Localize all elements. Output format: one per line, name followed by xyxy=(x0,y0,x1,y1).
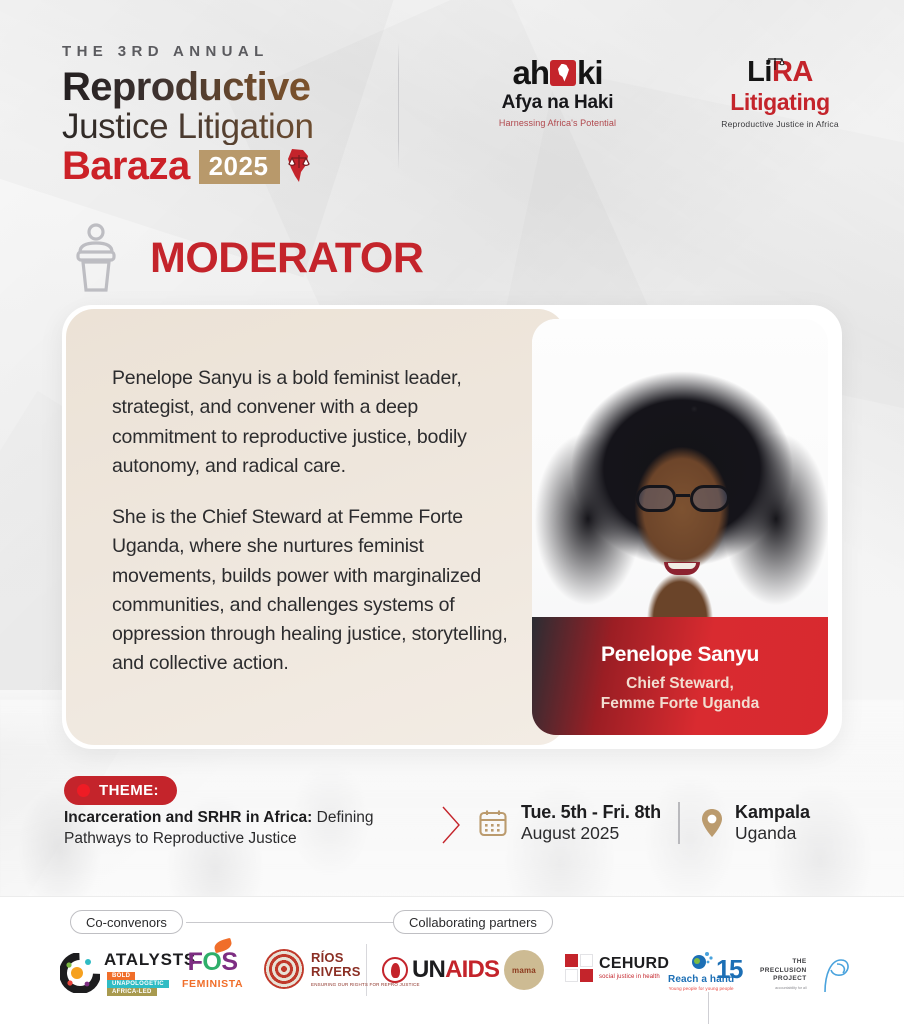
event-date: Tue. 5th - Fri. 8th August 2025 xyxy=(478,802,661,844)
catalysts-tag: AFRICA-LED xyxy=(107,988,157,996)
mama-network-logo: mama xyxy=(504,950,544,990)
event-kicker: THE 3RD ANNUAL xyxy=(62,44,362,59)
preclusion-tagline: accountability for all xyxy=(775,986,807,990)
unaids-logo: UNAIDS xyxy=(382,956,499,984)
unaids-aids: AIDS xyxy=(445,956,499,983)
cehurd-name: CEHURD xyxy=(599,956,669,972)
cehurd-tagline: social justice in health xyxy=(599,974,669,980)
event-branding: THE 3RD ANNUAL Reproductive Justice Liti… xyxy=(62,44,362,186)
cehurd-quadrant xyxy=(565,954,578,967)
lens-right xyxy=(690,485,730,512)
footer-divider xyxy=(0,896,904,897)
fos-letter-f: F xyxy=(188,948,203,976)
scales-of-justice-icon xyxy=(765,49,785,65)
moderator-label: MODERATOR xyxy=(150,234,423,283)
poster-footer: Co-convenors Collaborating partners xyxy=(0,896,904,1024)
unaids-wordmark: UNAIDS xyxy=(412,956,499,984)
lira-letter-a: A xyxy=(792,56,812,88)
africa-scales-icon xyxy=(279,146,319,186)
theme-dot-icon xyxy=(77,784,90,797)
fifteen-anniversary-logo: 15 xyxy=(716,954,742,985)
cehurd-quadrant xyxy=(565,969,578,982)
fos-feminista-logo: FOS FEMINISTA xyxy=(182,948,243,990)
event-location-text: Kampala Uganda xyxy=(735,802,810,844)
mama-circle-icon: mama xyxy=(504,950,544,990)
event-details-strip: THEME: Incarceration and SRHR in Africa:… xyxy=(0,772,904,872)
speaker-role-line2: Femme Forte Uganda xyxy=(601,694,759,713)
africa-square-icon xyxy=(550,60,576,86)
footer-connector-line xyxy=(186,922,397,923)
ahaki-wordmark-pre: ah xyxy=(512,56,549,89)
header-divider xyxy=(398,42,399,170)
cehurd-logo: CEHURD social justice in health xyxy=(565,954,669,982)
fos-subtitle: FEMINISTA xyxy=(182,978,243,990)
portrait-card: Penelope Sanyu Chief Steward, Femme Fort… xyxy=(532,319,828,735)
fifteen-mark: 15 xyxy=(716,954,742,985)
preclusion-wordmark: THE PRECLUSION PROJECT accountability fo… xyxy=(760,958,807,990)
strip-divider xyxy=(678,802,680,844)
preclusion-line2: PRECLUSION xyxy=(760,967,807,976)
ahaki-wordmark: ah ki xyxy=(470,56,645,89)
theme-text-bold: Incarceration and SRHR in Africa: xyxy=(64,809,312,826)
event-year-badge: 2025 xyxy=(199,150,281,184)
bio-paragraph: Penelope Sanyu is a bold feminist leader… xyxy=(112,364,526,481)
lira-letter-l: L xyxy=(747,56,764,88)
bio-panel: Penelope Sanyu is a bold feminist leader… xyxy=(66,309,566,745)
cehurd-cross-icon xyxy=(565,954,593,982)
lens-left xyxy=(636,485,676,512)
moderator-heading-row: MODERATOR xyxy=(70,222,423,294)
lira-wordmark: LiRA xyxy=(747,58,813,87)
speaker-name: Penelope Sanyu xyxy=(601,643,759,667)
event-location-main: Kampala xyxy=(735,802,810,823)
lira-logo: LiRA Litigating Reproductive Justice in … xyxy=(700,58,860,129)
theme-badge: THEME: xyxy=(64,776,177,805)
portrait-name-plate: Penelope Sanyu Chief Steward, Femme Fort… xyxy=(532,617,828,735)
hair-texture xyxy=(538,329,822,579)
preclusion-line1: THE xyxy=(792,958,806,967)
theme-label: THEME: xyxy=(99,782,159,799)
event-date-text: Tue. 5th - Fri. 8th August 2025 xyxy=(521,802,661,844)
reach-a-hand-tagline: Young people for young people xyxy=(669,986,734,991)
catalysts-c-icon xyxy=(60,953,100,993)
mama-wordmark: mama xyxy=(512,966,536,975)
co-convenors-label: Co-convenors xyxy=(70,910,183,934)
poster-header: THE 3RD ANNUAL Reproductive Justice Liti… xyxy=(0,36,904,186)
event-title-line3: Baraza xyxy=(62,146,190,186)
unaids-un: UN xyxy=(412,956,445,983)
lira-tagline: Reproductive Justice in Africa xyxy=(700,119,860,129)
location-pin-icon xyxy=(700,808,724,838)
ahaki-subtitle: Afya na Haki xyxy=(470,92,645,114)
fos-wordmark: FOS xyxy=(188,948,238,977)
fos-letter-s: S xyxy=(221,948,237,976)
podium-speaker-icon xyxy=(70,222,122,294)
event-title-line1: Reproductive xyxy=(62,67,362,109)
ahaki-logo: ah ki Afya na Haki Harnessing Africa's P… xyxy=(470,56,645,128)
event-title-line3-row: Baraza 2025 xyxy=(62,146,362,186)
ahaki-wordmark-post: ki xyxy=(577,56,603,89)
event-date-main: Tue. 5th - Fri. 8th xyxy=(521,802,661,823)
concentric-rings-icon xyxy=(264,949,304,989)
bio-paragraph: She is the Chief Steward at Femme Forte … xyxy=(112,503,526,679)
lens-bridge xyxy=(676,494,690,497)
cehurd-wordmark: CEHURD social justice in health xyxy=(599,956,669,980)
hand-globe-icon xyxy=(688,950,714,972)
event-poster: THE 3RD ANNUAL Reproductive Justice Liti… xyxy=(0,0,904,1024)
preclusion-project-logo: THE PRECLUSION PROJECT accountability fo… xyxy=(760,954,851,994)
event-title-line2: Justice Litigation xyxy=(62,109,362,146)
footer-logos: ATALYSTS BOLD UNAPOLOGETIC AFRICA-LED FO… xyxy=(0,942,904,1000)
eyeglasses xyxy=(636,485,730,513)
event-location: Kampala Uganda xyxy=(700,802,810,844)
unaids-emblem-icon xyxy=(382,957,408,983)
event-location-sub: Uganda xyxy=(735,823,810,844)
catalysts-tag: BOLD xyxy=(107,972,135,980)
catalysts-logo: ATALYSTS BOLD UNAPOLOGETIC AFRICA-LED xyxy=(60,950,196,996)
swirl-icon xyxy=(811,954,851,994)
cehurd-quadrant xyxy=(580,969,593,982)
lira-subtitle: Litigating xyxy=(700,89,860,116)
moderator-card: Penelope Sanyu is a bold feminist leader… xyxy=(62,305,842,749)
event-date-sub: August 2025 xyxy=(521,823,661,844)
speaker-role: Chief Steward, Femme Forte Uganda xyxy=(601,674,759,712)
theme-text: Incarceration and SRHR in Africa: Defini… xyxy=(64,807,434,849)
footer-label-row: Co-convenors Collaborating partners xyxy=(0,910,904,934)
calendar-icon xyxy=(478,808,508,838)
speaker-role-line1: Chief Steward, xyxy=(601,674,759,693)
chevron-right-icon xyxy=(438,804,464,846)
cehurd-quadrant xyxy=(580,954,593,967)
ahaki-tagline: Harnessing Africa's Potential xyxy=(470,118,645,128)
catalysts-tag: UNAPOLOGETIC xyxy=(107,980,169,988)
collaborating-partners-label: Collaborating partners xyxy=(393,910,553,934)
preclusion-line3: PROJECT xyxy=(773,975,807,984)
reach-a-hand-divider xyxy=(708,992,709,1024)
